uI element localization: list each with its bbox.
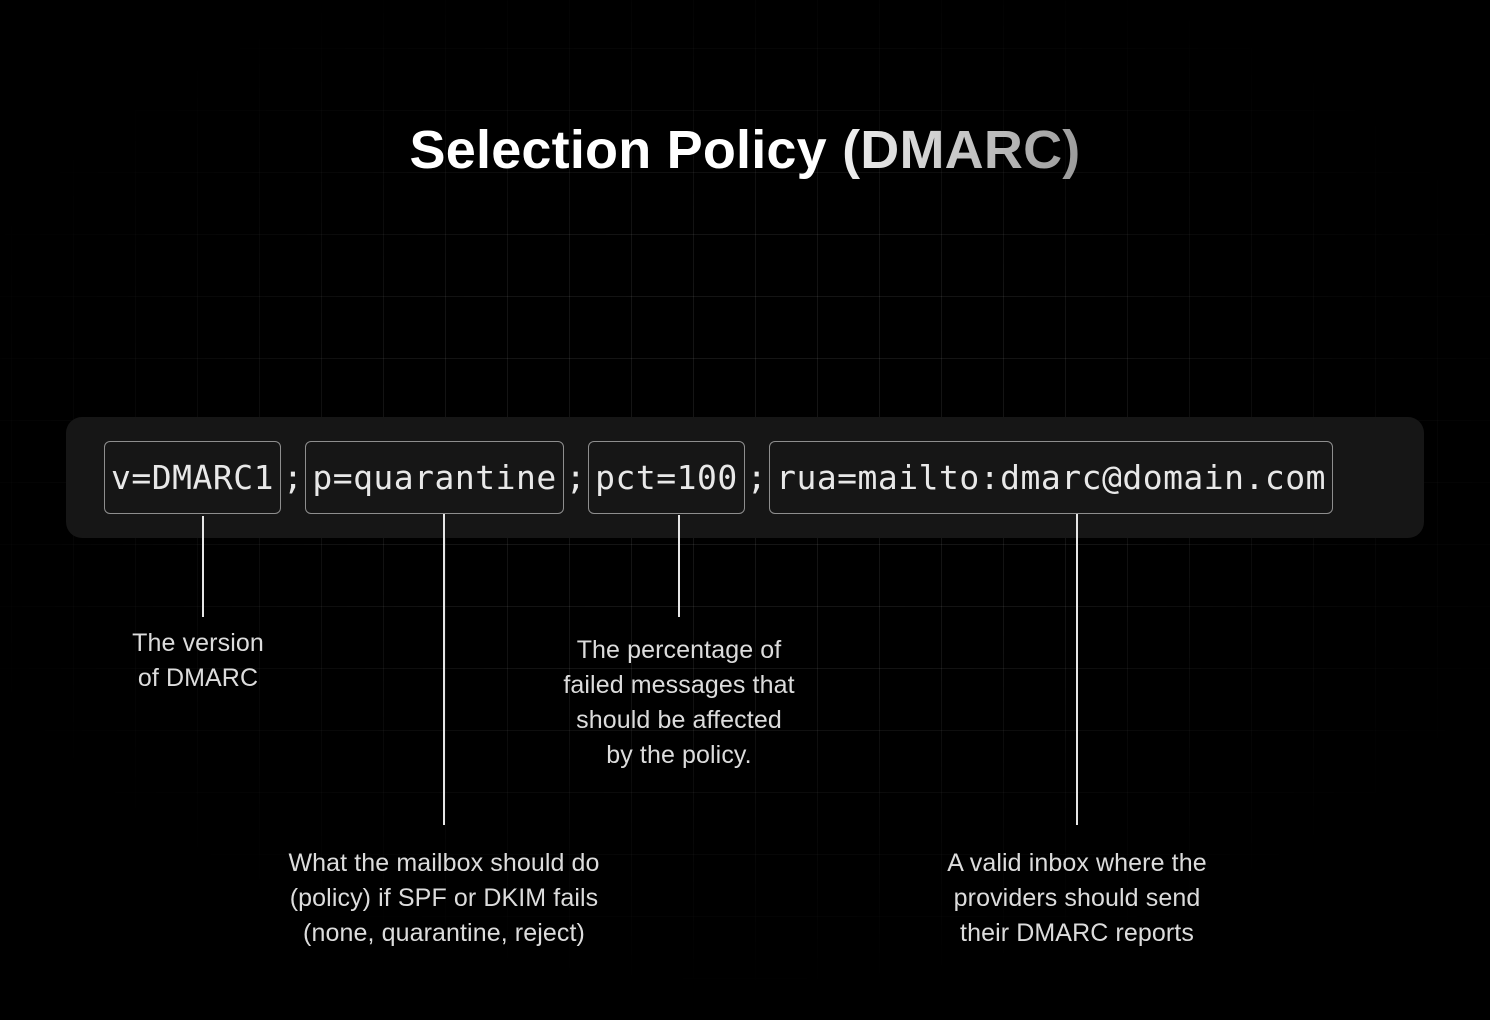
page-title: Selection Policy (DMARC) bbox=[0, 119, 1490, 181]
code-token-policy[interactable]: p=quarantine bbox=[305, 441, 563, 514]
page-title-subtitle: (DMARC) bbox=[842, 120, 1080, 180]
code-separator-3: ; bbox=[745, 461, 769, 494]
annotation-rua: A valid inbox where the providers should… bbox=[886, 846, 1268, 951]
code-token-rua[interactable]: rua=mailto:dmarc@domain.com bbox=[769, 441, 1333, 514]
annotation-percentage: The percentage of failed messages that s… bbox=[508, 633, 850, 773]
annotation-policy: What the mailbox should do (policy) if S… bbox=[233, 846, 655, 951]
connector-line-percentage bbox=[678, 515, 680, 617]
connector-line-policy bbox=[443, 514, 445, 825]
dmarc-record-line: v=DMARC1 ; p=quarantine ; pct=100 ; rua=… bbox=[104, 441, 1333, 514]
annotation-version: The version of DMARC bbox=[78, 626, 318, 696]
code-separator-2: ; bbox=[564, 461, 588, 494]
page-title-main: Selection Policy bbox=[410, 120, 843, 180]
connector-line-version bbox=[202, 516, 204, 617]
connector-line-rua bbox=[1076, 514, 1078, 825]
code-separator-1: ; bbox=[281, 461, 305, 494]
code-token-percentage[interactable]: pct=100 bbox=[588, 441, 745, 514]
code-token-version[interactable]: v=DMARC1 bbox=[104, 441, 281, 514]
dmarc-record-panel: v=DMARC1 ; p=quarantine ; pct=100 ; rua=… bbox=[66, 417, 1424, 538]
